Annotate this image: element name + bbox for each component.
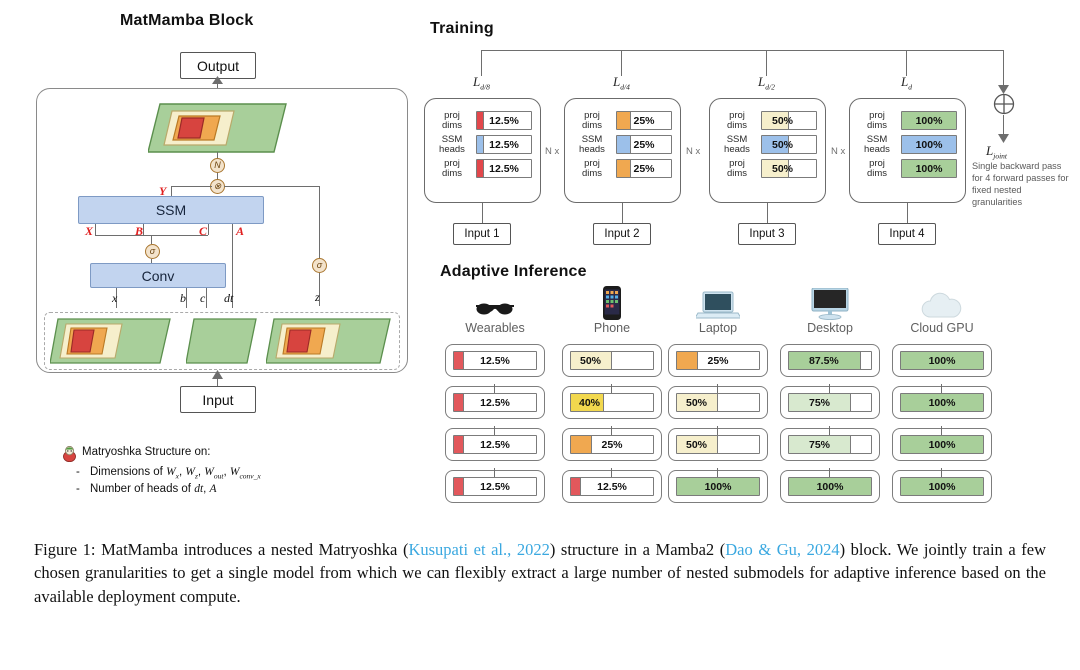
layer-bar: 50% — [676, 435, 760, 454]
page-title-training: Training — [430, 20, 494, 38]
nx-label-1: N x — [545, 146, 559, 157]
smartphone-icon — [562, 286, 662, 320]
training-card-3: projdims 50% SSMheads 50% projdims 50% — [709, 98, 826, 203]
inference-arrow-l2 — [717, 426, 718, 435]
training-bus-drop-4 — [906, 50, 907, 76]
training-card-2: projdims 25% SSMheads 25% projdims 25% — [564, 98, 681, 203]
sigma-op-z-icon: σ — [312, 258, 327, 273]
bar-ssm-heads: 50% — [761, 135, 817, 154]
loss-joint-label: Ljoint — [986, 143, 1007, 161]
device-label: Laptop — [668, 321, 768, 335]
arrow-output-head — [212, 76, 223, 84]
training-row: SSMheads 12.5% — [433, 135, 532, 155]
layer-bar: 25% — [676, 351, 760, 370]
wire-C — [208, 224, 209, 235]
arrow-input-head — [212, 370, 223, 379]
norm-op-icon: N — [210, 158, 225, 173]
training-row: SSMheads 50% — [718, 135, 817, 155]
bar-value: 50% — [679, 397, 707, 409]
training-bus-drop-2 — [621, 50, 622, 76]
wire-input4 — [907, 203, 908, 223]
bar-proj-dims: 25% — [616, 159, 672, 178]
training-row: projdims 25% — [573, 159, 672, 179]
bar-value: 50% — [764, 163, 793, 175]
layer-bar: 12.5% — [453, 477, 537, 496]
loss-label-d4: Ld/4 — [613, 74, 630, 92]
bar-proj-dims: 100% — [901, 159, 957, 178]
wire-A — [232, 224, 233, 235]
wire-input3 — [767, 203, 768, 223]
bar-value: 12.5% — [477, 139, 531, 151]
row-label-proj-dims: projdims — [858, 111, 896, 131]
bar-value: 100% — [902, 139, 956, 151]
output-box: Output — [180, 52, 256, 79]
row-label-ssm-heads: SSMheads — [573, 135, 611, 155]
bar-value: 12.5% — [454, 439, 536, 451]
nx-label-3: N x — [831, 146, 845, 157]
bar-value: 25% — [617, 115, 671, 127]
device-label: Phone — [562, 321, 662, 335]
page-title-matmamba: MatMamba Block — [120, 12, 254, 30]
bar-value: 12.5% — [454, 481, 536, 493]
inference-arrow-c3 — [941, 468, 942, 477]
legend-dash: - — [76, 483, 82, 495]
bar-ssm-heads: 12.5% — [476, 135, 532, 154]
page-title-inference: Adaptive Inference — [440, 263, 587, 281]
legend-item-2-text: Number of heads of dt, A — [90, 483, 217, 495]
citation-kusupati[interactable]: Kusupati et al., 2022 — [408, 540, 549, 559]
bar-value: 25% — [617, 163, 671, 175]
bar-value: 12.5% — [454, 397, 536, 409]
bar-value: 100% — [902, 163, 956, 175]
row-label-ssm-heads: SSMheads — [858, 135, 896, 155]
training-note: Single backward pass for 4 forward passe… — [972, 160, 1072, 209]
multiply-op-icon: ⊗ — [210, 179, 225, 194]
layer-bar: 100% — [900, 477, 984, 496]
cloud-icon — [892, 286, 992, 320]
training-card-1: projdims 12.5% SSMheads 12.5% projdims 1… — [424, 98, 541, 203]
row-label-proj-dims: projdims — [858, 159, 896, 179]
inference-arrow-d3 — [829, 468, 830, 477]
legend-item-dimensions: - Dimensions of Wx, Wz, Wout, Wconv_x — [76, 466, 402, 480]
training-input-4: Input 4 — [878, 223, 936, 245]
device-label: Cloud GPU — [892, 321, 992, 335]
matryoshka-trapezoid-x — [50, 316, 172, 366]
row-label-proj-dims: projdims — [573, 111, 611, 131]
wire-z-upper — [319, 186, 320, 258]
layer-bar: 40% — [570, 393, 654, 412]
bar-value: 50% — [764, 139, 793, 151]
caption-label: Figure 1: — [34, 540, 96, 559]
bar-value: 100% — [789, 481, 871, 493]
label-B: B — [135, 224, 143, 239]
inference-arrow-w2 — [494, 426, 495, 435]
label-X: X — [85, 224, 93, 239]
sigma-op-conv-icon: σ — [145, 244, 160, 259]
inference-arrow-p2 — [611, 426, 612, 435]
layer-bar: 75% — [788, 393, 872, 412]
layer-bar: 75% — [788, 435, 872, 454]
laptop-icon — [668, 286, 768, 320]
inference-layer-card[interactable]: 25% — [668, 344, 768, 377]
legend-item-heads: - Number of heads of dt, A — [76, 483, 402, 495]
bar-value: 25% — [571, 439, 653, 451]
label-b: b — [180, 291, 186, 306]
matryoshka-doll-icon — [62, 446, 77, 462]
label-dt: dt — [224, 291, 233, 306]
inference-arrow-c2 — [941, 426, 942, 435]
wire-B — [143, 224, 144, 235]
legend-title: Matryoshka Structure on: — [82, 446, 210, 458]
training-row: projdims 50% — [718, 111, 817, 131]
training-row: SSMheads 100% — [858, 135, 957, 155]
inference-layer-card[interactable]: 87.5% — [780, 344, 880, 377]
wire-to-sigma-conv — [151, 235, 152, 244]
loss-label-d2: Ld/2 — [758, 74, 775, 92]
training-row: projdims 50% — [718, 159, 817, 179]
inference-arrow-l3 — [717, 468, 718, 477]
inference-arrow-w1 — [494, 384, 495, 393]
inference-arrow-c1 — [941, 384, 942, 393]
loss-label-d8: Ld/8 — [473, 74, 490, 92]
device-label: Wearables — [445, 321, 545, 335]
bar-proj-dims: 100% — [901, 111, 957, 130]
training-card-4: projdims 100% SSMheads 100% projdims 100… — [849, 98, 966, 203]
layer-bar: 100% — [900, 435, 984, 454]
bar-value: 40% — [573, 397, 600, 409]
wire-X — [95, 224, 96, 235]
bar-proj-dims: 25% — [616, 111, 672, 130]
training-input-3: Input 3 — [738, 223, 796, 245]
inference-arrow-l1 — [717, 384, 718, 393]
layer-bar: 12.5% — [570, 477, 654, 496]
layer-bar: 12.5% — [453, 351, 537, 370]
figure-caption: Figure 1: MatMamba introduces a nested M… — [34, 538, 1046, 608]
sum-operator-icon — [993, 93, 1015, 115]
bar-ssm-heads: 100% — [901, 135, 957, 154]
training-row: projdims 100% — [858, 159, 957, 179]
legend-dash: - — [76, 466, 82, 480]
wire-conv-c — [206, 288, 207, 308]
wire-conv-b — [186, 288, 187, 308]
layer-bar: 12.5% — [453, 393, 537, 412]
inference-arrow-w3 — [494, 468, 495, 477]
bar-value: 12.5% — [454, 355, 536, 367]
caption-part2: ) structure in a Mamba2 ( — [550, 540, 725, 559]
label-z: z — [315, 290, 320, 305]
caption-part1: MatMamba introduces a nested Matryoshka … — [96, 540, 409, 559]
layer-bar: 50% — [676, 393, 760, 412]
training-row: projdims 12.5% — [433, 111, 532, 131]
trapezoid-bcdt — [186, 316, 258, 366]
inference-layer-card[interactable]: 100% — [892, 344, 992, 377]
bar-value: 100% — [901, 397, 983, 409]
bar-value: 75% — [791, 397, 830, 409]
wire-y-horizontal — [171, 186, 212, 187]
matryoshka-trapezoid-out — [148, 100, 288, 158]
matryoshka-trapezoid-z — [266, 316, 392, 366]
bar-proj-dims: 50% — [761, 111, 817, 130]
bar-value: 87.5% — [791, 355, 839, 367]
bar-value: 12.5% — [571, 481, 653, 493]
layer-bar: 100% — [788, 477, 872, 496]
layer-bar: 12.5% — [453, 435, 537, 454]
row-label-proj-dims: projdims — [718, 159, 756, 179]
label-c: c — [200, 291, 205, 306]
training-input-1: Input 1 — [453, 223, 511, 245]
inference-arrow-p3 — [611, 468, 612, 477]
bar-proj-dims: 50% — [761, 159, 817, 178]
nx-label-2: N x — [686, 146, 700, 157]
sunglasses-icon — [445, 286, 545, 320]
legend-item-1-text: Dimensions of Wx, Wz, Wout, Wconv_x — [90, 466, 261, 480]
input-box: Input — [180, 386, 256, 413]
bar-ssm-heads: 25% — [616, 135, 672, 154]
wire-input1 — [482, 203, 483, 223]
layer-bar: 50% — [570, 351, 654, 370]
label-A: A — [236, 224, 244, 239]
label-x: x — [112, 291, 117, 306]
training-row: projdims 25% — [573, 111, 672, 131]
training-row: projdims 100% — [858, 111, 957, 131]
wire-input2 — [622, 203, 623, 223]
training-row: projdims 12.5% — [433, 159, 532, 179]
bar-value: 25% — [677, 355, 759, 367]
inference-layer-card[interactable]: 12.5% — [445, 344, 545, 377]
bar-value: 100% — [901, 481, 983, 493]
bar-proj-dims: 12.5% — [476, 159, 532, 178]
layer-bar: 87.5% — [788, 351, 872, 370]
wire-z-top — [224, 186, 320, 187]
layer-bar: 100% — [900, 351, 984, 370]
training-input-2: Input 2 — [593, 223, 651, 245]
device-label: Desktop — [780, 321, 880, 335]
bar-value: 12.5% — [477, 163, 531, 175]
inference-arrow-d1 — [829, 384, 830, 393]
bar-proj-dims: 12.5% — [476, 111, 532, 130]
label-C: C — [199, 224, 207, 239]
layer-bar: 100% — [900, 393, 984, 412]
bar-value: 75% — [791, 439, 830, 451]
bar-value: 100% — [902, 115, 956, 127]
ssm-box: SSM — [78, 196, 264, 224]
bar-value: 12.5% — [477, 115, 531, 127]
inference-layer-card[interactable]: 50% — [562, 344, 662, 377]
layer-bar: 100% — [676, 477, 760, 496]
row-label-ssm-heads: SSMheads — [433, 135, 471, 155]
training-bus-drop-3 — [766, 50, 767, 76]
training-bus-drop-sum — [1003, 50, 1004, 88]
row-label-proj-dims: projdims — [433, 111, 471, 131]
training-bus-horizontal — [481, 50, 1003, 51]
row-label-proj-dims: projdims — [718, 111, 756, 131]
inference-arrow-d2 — [829, 426, 830, 435]
bar-value: 100% — [901, 355, 983, 367]
bar-value: 100% — [901, 439, 983, 451]
row-label-proj-dims: projdims — [433, 159, 471, 179]
training-bus-drop-1 — [481, 50, 482, 76]
inference-arrow-p1 — [611, 384, 612, 393]
desktop-monitor-icon — [780, 286, 880, 320]
layer-bar: 25% — [570, 435, 654, 454]
loss-label-d: Ld — [901, 74, 912, 92]
training-row: SSMheads 25% — [573, 135, 672, 155]
row-label-ssm-heads: SSMheads — [718, 135, 756, 155]
matryoshka-legend: Matryoshka Structure on: - Dimensions of… — [62, 446, 402, 495]
row-label-proj-dims: projdims — [573, 159, 611, 179]
conv-box: Conv — [90, 263, 226, 288]
bar-value: 100% — [677, 481, 759, 493]
bar-value: 50% — [679, 439, 707, 451]
bar-value: 50% — [764, 115, 793, 127]
bar-value: 25% — [617, 139, 671, 151]
bar-value: 50% — [573, 355, 601, 367]
arrow-joint-head — [998, 134, 1009, 143]
citation-dao-gu[interactable]: Dao & Gu, 2024 — [725, 540, 839, 559]
